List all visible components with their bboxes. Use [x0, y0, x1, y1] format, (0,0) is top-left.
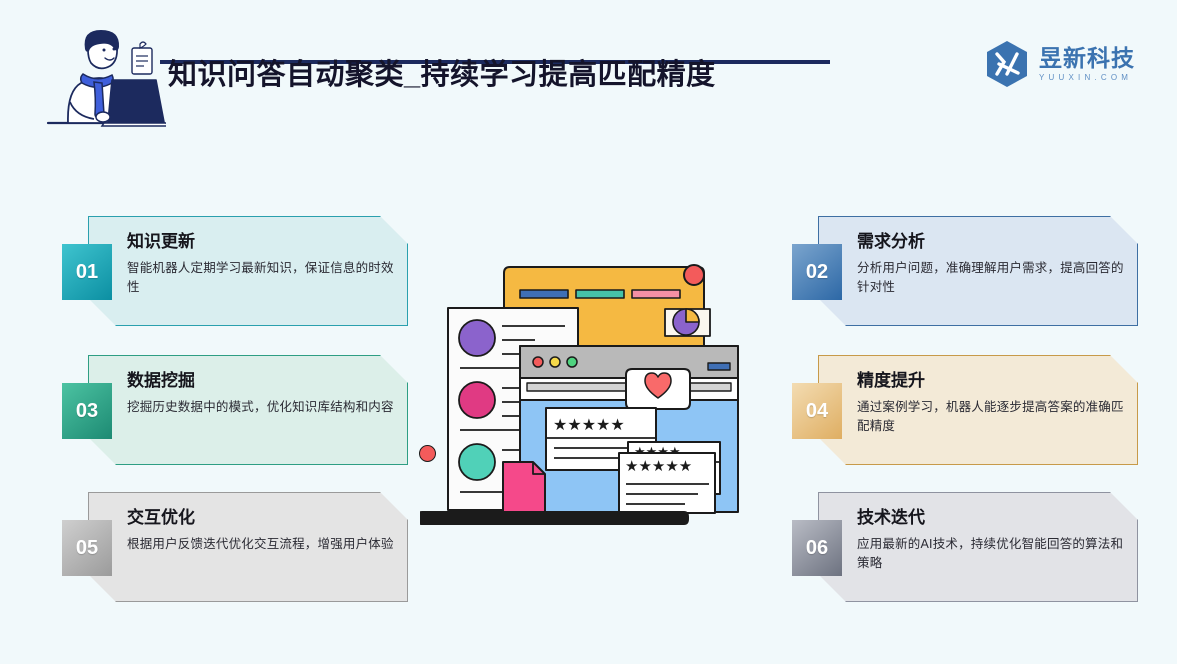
feature-card-01[interactable]: 知识更新 智能机器人定期学习最新知识，保证信息的时效性: [88, 216, 408, 326]
card-description: 智能机器人定期学习最新知识，保证信息的时效性: [127, 259, 395, 297]
card-title: 数据挖掘: [127, 368, 395, 394]
card-content: 需求分析 分析用户问题，准确理解用户需求，提高回答的针对性: [857, 229, 1125, 297]
page-title-wrap: 知识问答自动聚类_持续学习提高匹配精度: [168, 55, 868, 95]
brand-logo: 昱新科技 YUUXIN.COM: [985, 40, 1135, 88]
card-content: 交互优化 根据用户反馈迭代优化交互流程，增强用户体验: [127, 505, 395, 554]
card-title: 交互优化: [127, 505, 395, 531]
svg-text:★★★★★: ★★★★★: [553, 415, 625, 434]
feature-card-06[interactable]: 技术迭代 应用最新的AI技术，持续优化智能回答的算法和策略: [818, 492, 1138, 602]
dashboard-reviews-analytics-illustration: ★★★★★ ★★★★ ★★★★★: [420, 250, 750, 525]
card-description: 通过案例学习，机器人能逐步提高答案的准确匹配精度: [857, 398, 1125, 436]
slide-root: 知识问答自动聚类_持续学习提高匹配精度 昱新科技 YUUXIN.COM 知识更新…: [0, 0, 1177, 664]
slide-header: 知识问答自动聚类_持续学习提高匹配精度 昱新科技 YUUXIN.COM: [0, 0, 1177, 150]
card-number-badge-06: 06: [792, 520, 842, 576]
card-title: 知识更新: [127, 229, 395, 255]
card-title: 需求分析: [857, 229, 1125, 255]
logo-domain: YUUXIN.COM: [1039, 73, 1135, 83]
card-title: 精度提升: [857, 368, 1125, 394]
logo-company-name: 昱新科技: [1039, 46, 1135, 71]
logo-text-block: 昱新科技 YUUXIN.COM: [1039, 46, 1135, 83]
feature-card-05[interactable]: 交互优化 根据用户反馈迭代优化交互流程，增强用户体验: [88, 492, 408, 602]
card-number-badge-05: 05: [62, 520, 112, 576]
card-description: 挖掘历史数据中的模式，优化知识库结构和内容: [127, 398, 395, 417]
card-content: 精度提升 通过案例学习，机器人能逐步提高答案的准确匹配精度: [857, 368, 1125, 436]
card-content: 数据挖掘 挖掘历史数据中的模式，优化知识库结构和内容: [127, 368, 395, 417]
card-number-badge-04: 04: [792, 383, 842, 439]
page-title: 知识问答自动聚类_持续学习提高匹配精度: [168, 55, 868, 95]
card-description: 分析用户问题，准确理解用户需求，提高回答的针对性: [857, 259, 1125, 297]
svg-text:★★★★★: ★★★★★: [625, 457, 692, 475]
feature-card-03[interactable]: 数据挖掘 挖掘历史数据中的模式，优化知识库结构和内容: [88, 355, 408, 465]
card-number-badge-03: 03: [62, 383, 112, 439]
card-content: 技术迭代 应用最新的AI技术，持续优化智能回答的算法和策略: [857, 505, 1125, 573]
card-content: 知识更新 智能机器人定期学习最新知识，保证信息的时效性: [127, 229, 395, 297]
card-description: 应用最新的AI技术，持续优化智能回答的算法和策略: [857, 535, 1125, 573]
person-with-laptop-illustration: [46, 20, 166, 130]
card-number-badge-01: 01: [62, 244, 112, 300]
feature-card-02[interactable]: 需求分析 分析用户问题，准确理解用户需求，提高回答的针对性: [818, 216, 1138, 326]
card-description: 根据用户反馈迭代优化交互流程，增强用户体验: [127, 535, 395, 554]
card-title: 技术迭代: [857, 505, 1125, 531]
yuuxin-hexagon-logo-icon: [985, 40, 1029, 88]
card-number-badge-02: 02: [792, 244, 842, 300]
feature-card-04[interactable]: 精度提升 通过案例学习，机器人能逐步提高答案的准确匹配精度: [818, 355, 1138, 465]
